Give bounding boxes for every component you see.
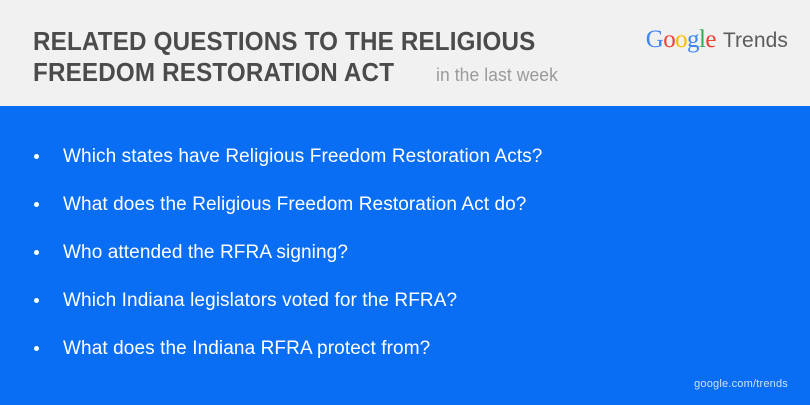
google-letter-3: g: [687, 26, 699, 53]
bullet-dot-icon: [34, 346, 39, 351]
title-line-2-row: FREEDOM RESTORATION ACT in the last week: [33, 57, 633, 91]
questions-panel: Which states have Religious Freedom Rest…: [0, 106, 810, 405]
google-wordmark: Google: [646, 27, 716, 52]
question-text: What does the Religious Freedom Restorat…: [63, 193, 526, 216]
footer-source-url: google.com/trends: [694, 378, 788, 391]
trends-wordmark: Trends: [723, 28, 788, 53]
question-text: Who attended the RFRA signing?: [63, 241, 348, 264]
card-header: RELATED QUESTIONS TO THE RELIGIOUS FREED…: [0, 0, 810, 106]
google-letter-0: G: [646, 26, 663, 53]
question-text: Which states have Religious Freedom Rest…: [63, 145, 542, 168]
title-subtitle: in the last week: [436, 60, 558, 91]
question-item[interactable]: What does the Religious Freedom Restorat…: [0, 180, 810, 228]
bullet-dot-icon: [34, 202, 39, 207]
bullet-dot-icon: [34, 154, 39, 159]
question-text: What does the Indiana RFRA protect from?: [63, 337, 430, 360]
page-title-line-1: RELATED QUESTIONS TO THE RELIGIOUS: [33, 26, 591, 57]
question-item[interactable]: What does the Indiana RFRA protect from?: [0, 324, 810, 372]
google-letter-1: o: [663, 26, 675, 53]
google-trends-card: RELATED QUESTIONS TO THE RELIGIOUS FREED…: [0, 0, 810, 405]
bullet-dot-icon: [34, 250, 39, 255]
page-title-line-2: FREEDOM RESTORATION ACT: [33, 57, 394, 88]
google-letter-5: e: [705, 26, 716, 53]
bullet-dot-icon: [34, 298, 39, 303]
related-questions-list: Which states have Religious Freedom Rest…: [0, 132, 810, 372]
google-trends-logo: Google Trends: [646, 27, 788, 53]
question-item[interactable]: Which Indiana legislators voted for the …: [0, 276, 810, 324]
question-item[interactable]: Which states have Religious Freedom Rest…: [0, 132, 810, 180]
google-letter-2: o: [675, 26, 687, 53]
question-item[interactable]: Who attended the RFRA signing?: [0, 228, 810, 276]
title-block: RELATED QUESTIONS TO THE RELIGIOUS FREED…: [33, 26, 633, 91]
question-text: Which Indiana legislators voted for the …: [63, 289, 457, 312]
